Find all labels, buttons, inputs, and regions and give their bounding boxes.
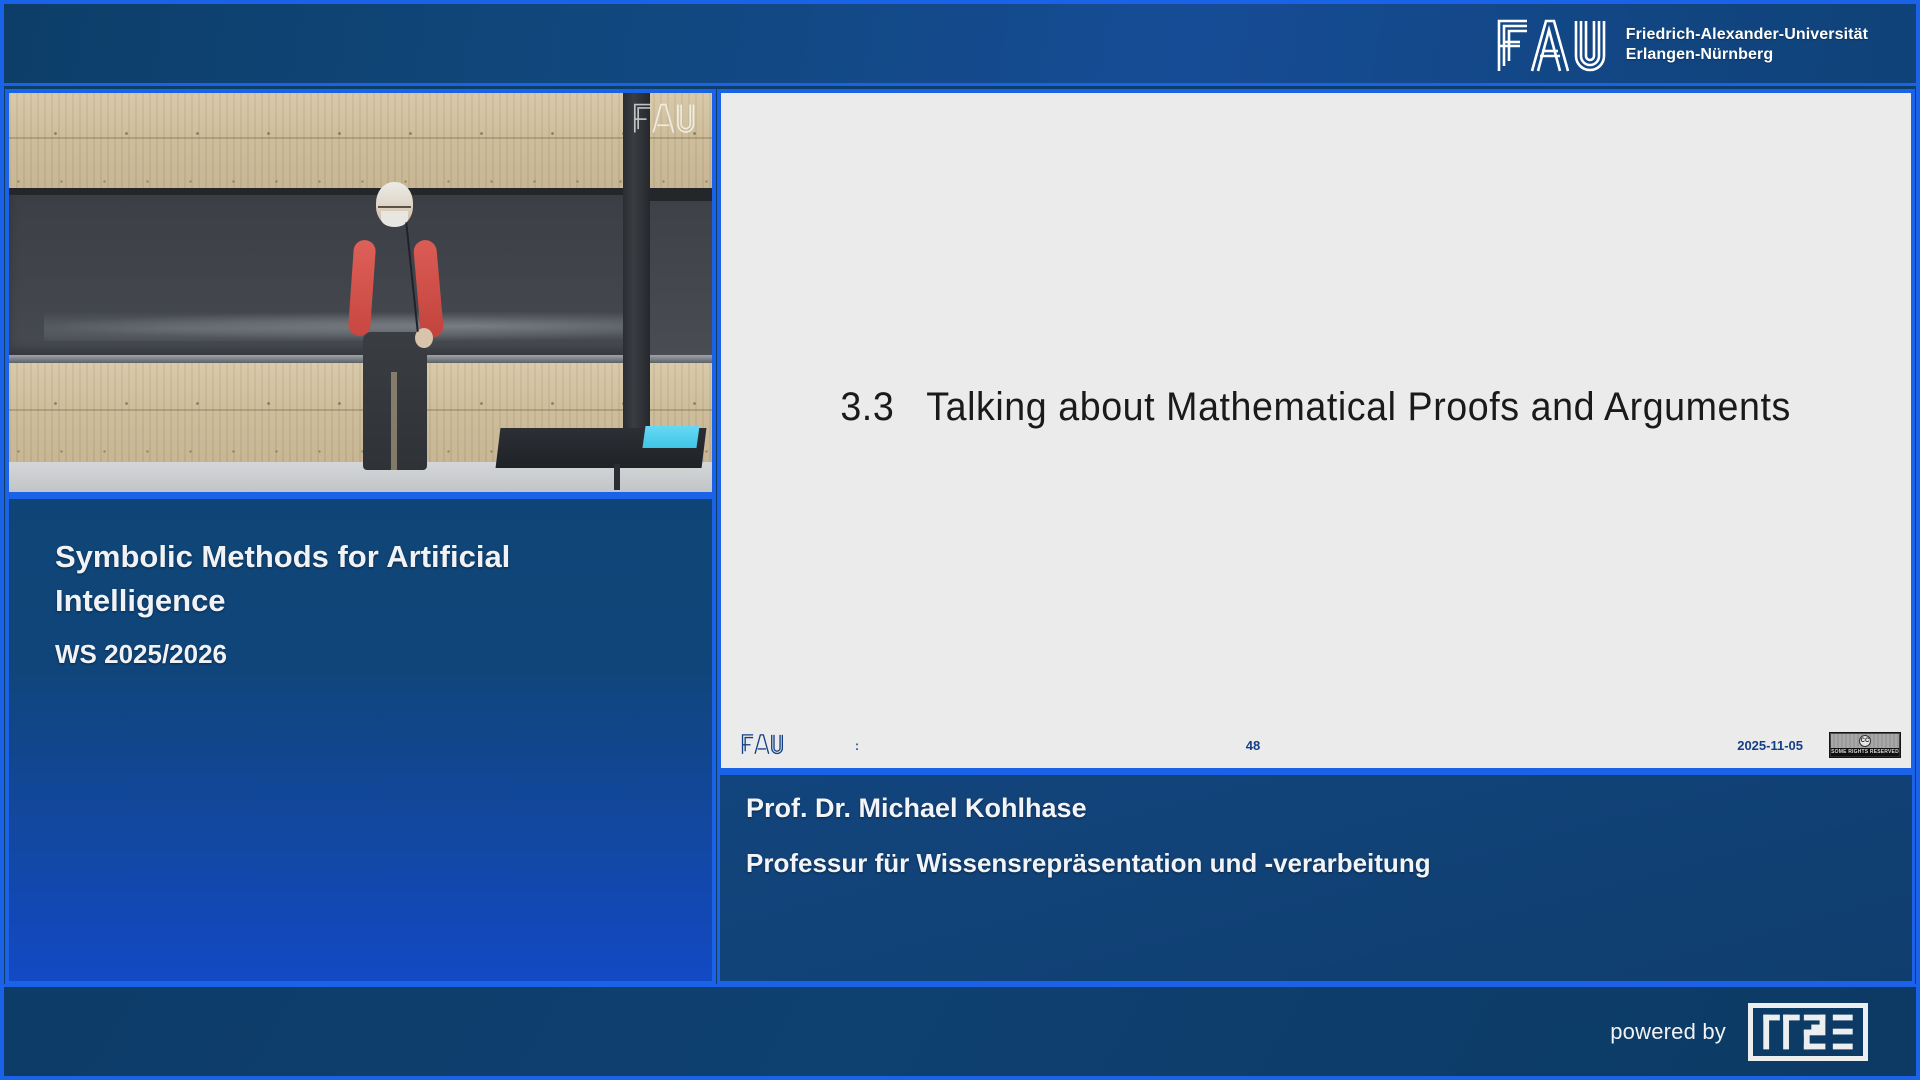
presenter-leg-gap xyxy=(391,372,397,470)
cc-mark: CC xyxy=(1859,735,1871,747)
slide-page-number: 48 xyxy=(917,738,1589,753)
lecture-video-panel[interactable] xyxy=(5,89,716,496)
left-column: Symbolic Methods for Artificial Intellig… xyxy=(5,89,716,984)
fau-watermark-icon xyxy=(632,101,698,140)
lecture-recording-page: Friedrich-Alexander-Universität Erlangen… xyxy=(0,0,1920,1080)
slide-footer-separator: : xyxy=(797,738,917,753)
fau-logo-icon xyxy=(1494,16,1612,74)
presenter-figure xyxy=(339,182,449,470)
presenter-beard xyxy=(381,211,408,227)
slide-heading: 3.3Talking about Mathematical Proofs and… xyxy=(841,385,1792,430)
slide-footer: : 48 2025-11-05 CC SOME RIGHTS RESERVED xyxy=(721,722,1911,768)
cc-badge-top: CC xyxy=(1831,734,1899,748)
course-term: WS 2025/2026 xyxy=(55,639,672,670)
course-title: Symbolic Methods for Artificial Intellig… xyxy=(55,535,672,623)
powered-by-label: powered by xyxy=(1610,1019,1726,1045)
header-brand: Friedrich-Alexander-Universität Erlangen… xyxy=(1494,16,1868,74)
video-scene xyxy=(9,93,712,492)
fau-logo-small-icon xyxy=(739,733,797,758)
cc-badge-text: SOME RIGHTS RESERVED xyxy=(1831,748,1899,756)
presenter-name: Prof. Dr. Michael Kohlhase xyxy=(746,793,1912,824)
slide-section-number: 3.3 xyxy=(841,385,895,429)
slide-date: 2025-11-05 xyxy=(1589,738,1829,753)
creative-commons-badge: CC SOME RIGHTS RESERVED xyxy=(1829,732,1901,758)
presenter-chair: Professur für Wissensrepräsentation und … xyxy=(746,848,1912,879)
wall-texture xyxy=(9,93,712,188)
desk-leg xyxy=(614,464,620,490)
slide-panel[interactable]: 3.3Talking about Mathematical Proofs and… xyxy=(717,89,1915,772)
presenter-info-panel: Prof. Dr. Michael Kohlhase Professur für… xyxy=(717,772,1915,984)
wall-upper xyxy=(9,93,712,188)
rrze-logo-icon xyxy=(1748,1003,1868,1061)
slide-section-title: Talking about Mathematical Proofs and Ar… xyxy=(927,385,1792,429)
desk-monitor xyxy=(642,426,699,448)
page-header: Friedrich-Alexander-Universität Erlangen… xyxy=(4,4,1916,86)
slide-content: 3.3Talking about Mathematical Proofs and… xyxy=(721,93,1911,722)
chalkboard-right xyxy=(650,195,712,355)
page-footer: powered by xyxy=(4,984,1916,1076)
course-title-block: Symbolic Methods for Artificial Intellig… xyxy=(5,496,716,984)
university-name: Friedrich-Alexander-Universität Erlangen… xyxy=(1626,25,1868,65)
presenter-glasses xyxy=(378,206,411,211)
